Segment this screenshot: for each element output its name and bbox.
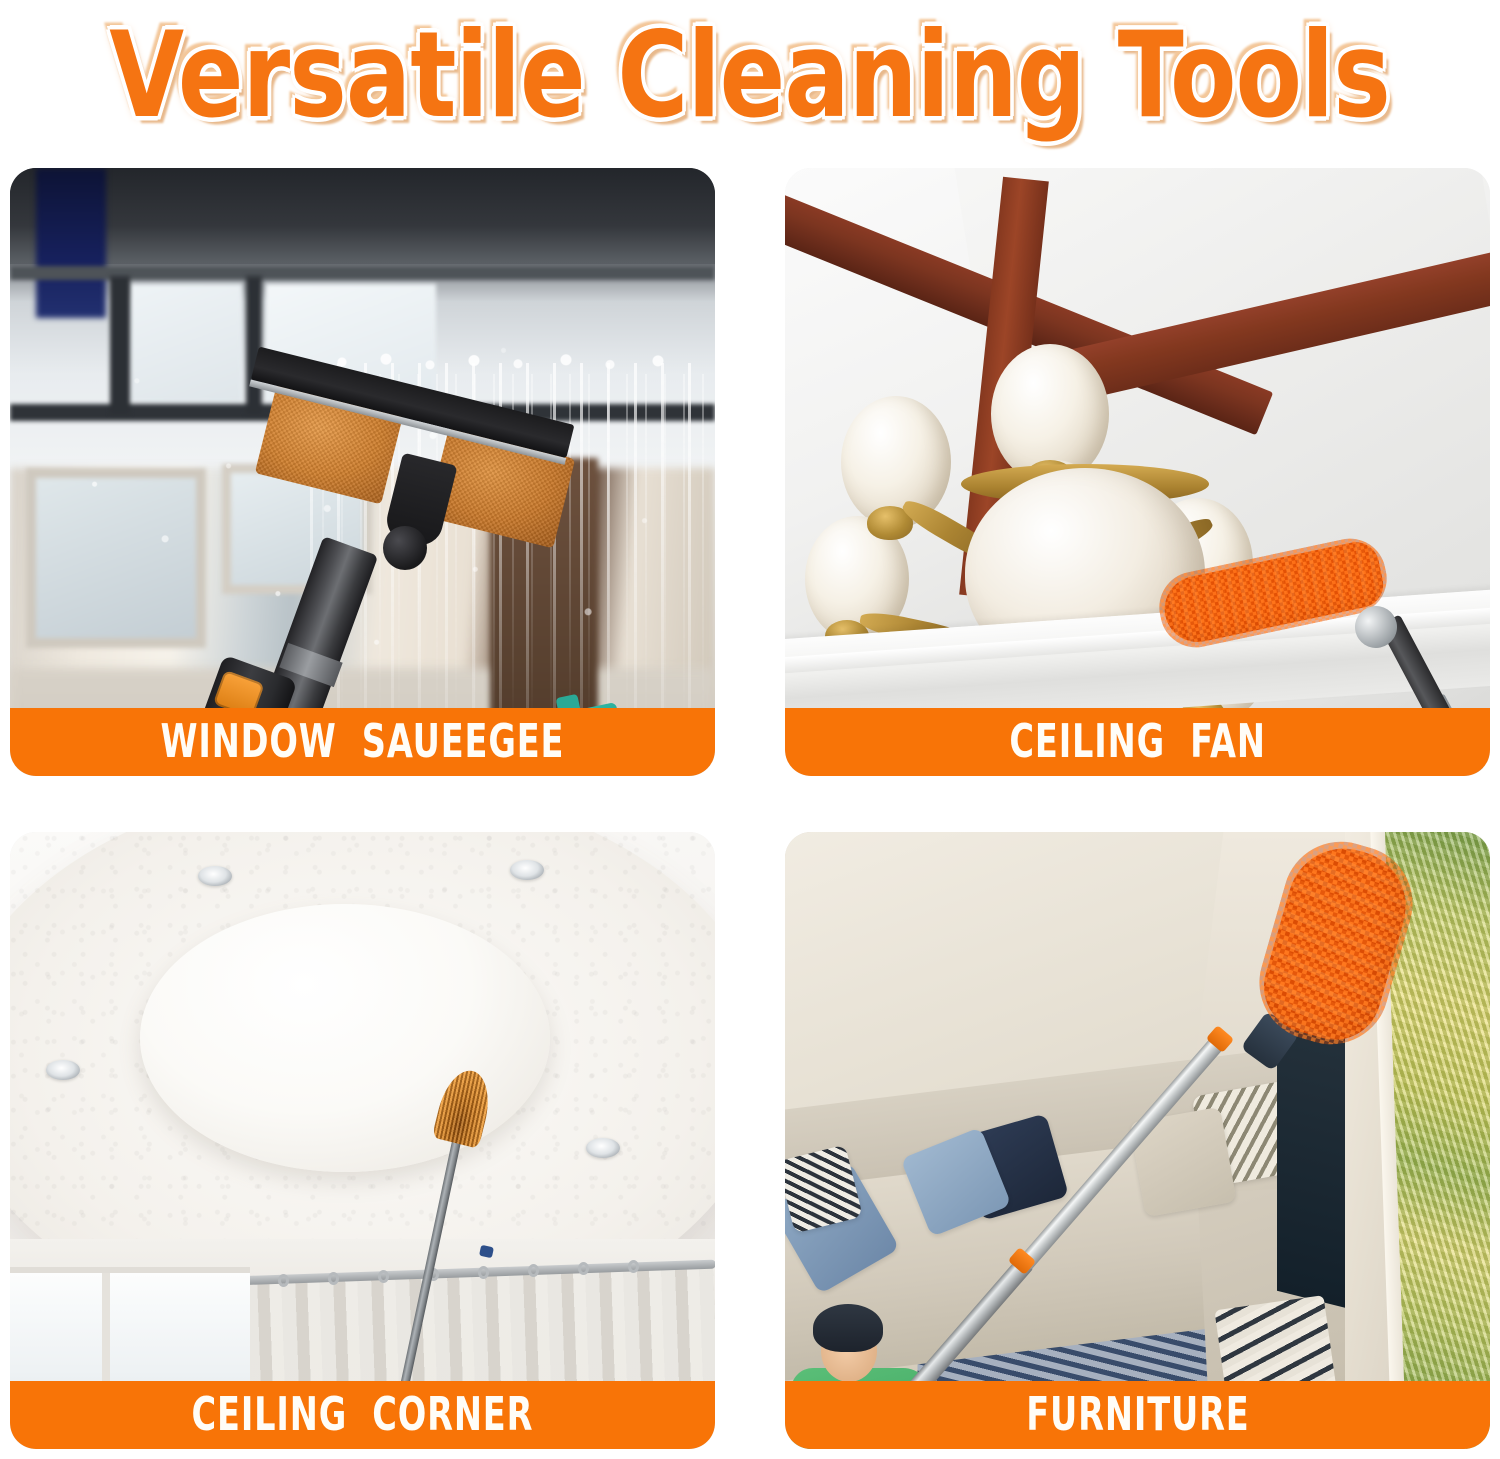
scene-window-squeegee xyxy=(10,168,715,776)
curtain-ring-1 xyxy=(278,1274,289,1287)
panel-furniture[interactable]: FURNITURE xyxy=(785,832,1490,1449)
recessed-spotlight-1 xyxy=(198,866,232,886)
scene-ceiling-corner xyxy=(10,832,715,1449)
scene-furniture xyxy=(785,832,1490,1449)
panel-ceiling-fan[interactable]: CEILING FAN xyxy=(785,168,1490,776)
label-bar-furniture: FURNITURE xyxy=(785,1381,1490,1449)
squeegee-pivot-knob xyxy=(383,526,427,570)
curtain-ring-8 xyxy=(628,1260,639,1273)
panel-grid: WINDOW SAUEEGEE xyxy=(10,168,1490,1449)
person-hair xyxy=(813,1304,883,1352)
panel-window-squeegee[interactable]: WINDOW SAUEEGEE xyxy=(10,168,715,776)
label-bar-ceiling-corner: CEILING CORNER xyxy=(10,1381,715,1449)
label-ceiling-fan: CEILING FAN xyxy=(1009,715,1265,768)
page-title: Versatile Cleaning Tools xyxy=(110,16,1391,135)
curtain-ring-2 xyxy=(328,1272,339,1285)
pole-joint-1 xyxy=(479,1245,494,1258)
panel-ceiling-corner[interactable]: CEILING CORNER xyxy=(10,832,715,1449)
label-window-squeegee: WINDOW SAUEEGEE xyxy=(161,715,565,768)
infographic-page: Versatile Cleaning Tools xyxy=(0,0,1500,1459)
label-bar-window-squeegee: WINDOW SAUEEGEE xyxy=(10,708,715,776)
curtain-ring-5 xyxy=(478,1266,489,1279)
label-furniture: FURNITURE xyxy=(1026,1388,1249,1441)
scene-ceiling-fan xyxy=(785,168,1490,776)
recessed-spotlight-2 xyxy=(510,860,544,880)
curtain-ring-7 xyxy=(578,1262,589,1275)
ceiling-dome xyxy=(140,904,550,1172)
title-banner: Versatile Cleaning Tools xyxy=(0,0,1500,150)
recessed-spotlight-4 xyxy=(586,1138,620,1158)
recessed-spotlight-3 xyxy=(46,1060,80,1080)
curtain-ring-6 xyxy=(528,1264,539,1277)
label-ceiling-corner: CEILING CORNER xyxy=(192,1388,534,1441)
label-bar-ceiling-fan: CEILING FAN xyxy=(785,708,1490,776)
curtain-ring-3 xyxy=(378,1270,389,1283)
